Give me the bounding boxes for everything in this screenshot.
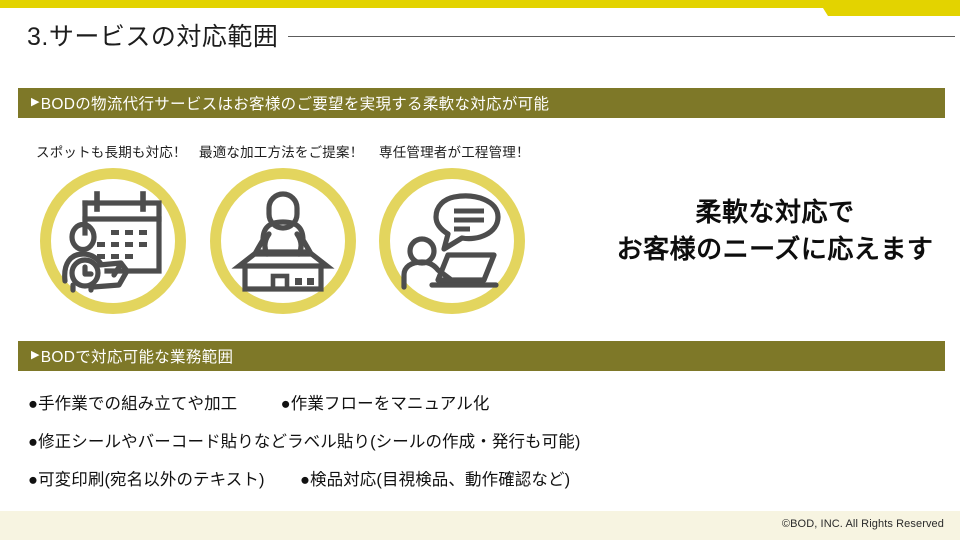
scope-item: ●修正シールやバーコード貼りなどラベル貼り(シールの作成・発行も可能) [28, 428, 580, 452]
top-accent-bar [0, 0, 960, 16]
feature-caption-3: 専任管理者が工程管理！ [379, 141, 530, 161]
caret-right-icon: ▶ [31, 97, 40, 108]
page-title: 3.サービスの対応範囲 [27, 17, 278, 53]
feature-circle-2 [210, 168, 356, 314]
scope-item: ●検品対応(目視検品、動作確認など) [300, 466, 570, 490]
title-divider-rule [288, 36, 955, 37]
feature-caption-2: 最適な加工方法をご提案！ [199, 141, 363, 161]
section-banner-services: ▶ BODの物流代行サービスはお客様のご要望を実現する柔軟な対応が可能 [18, 88, 945, 118]
section-banner-scope: ▶ BODで対応可能な業務範囲 [18, 341, 945, 371]
scope-item: ●可変印刷(宛名以外のテキスト) [28, 466, 265, 490]
feature-circle-3 [379, 168, 525, 314]
footer-copyright: ©BOD, INC. All Rights Reserved [782, 518, 944, 530]
headline-block: 柔軟な対応で お客様のニーズに応えます [600, 194, 950, 268]
section-banner-scope-label: BODで対応可能な業務範囲 [41, 345, 234, 367]
scope-row-3: ●可変印刷(宛名以外のテキスト) ●検品対応(目視検品、動作確認など) [28, 466, 570, 490]
headline-line-1: 柔軟な対応で [600, 194, 950, 231]
section-banner-services-label: BODの物流代行サービスはお客様のご要望を実現する柔軟な対応が可能 [41, 92, 550, 114]
feature-caption-1: スポットも長期も対応！ [36, 141, 187, 161]
scope-item: ●作業フローをマニュアル化 [281, 390, 490, 414]
scope-row-1: ●手作業での組み立てや加工 ●作業フローをマニュアル化 [28, 390, 489, 414]
feature-circle-1 [40, 168, 186, 314]
scope-row-2: ●修正シールやバーコード貼りなどラベル貼り(シールの作成・発行も可能) [28, 428, 580, 452]
calendar-person-icon [59, 189, 167, 293]
caret-right-icon: ▶ [31, 350, 40, 361]
headline-line-2: お客様のニーズに応えます [600, 231, 950, 268]
worker-box-icon [231, 188, 335, 294]
laptop-chat-icon [398, 189, 506, 293]
scope-item: ●手作業での組み立てや加工 [28, 390, 237, 414]
